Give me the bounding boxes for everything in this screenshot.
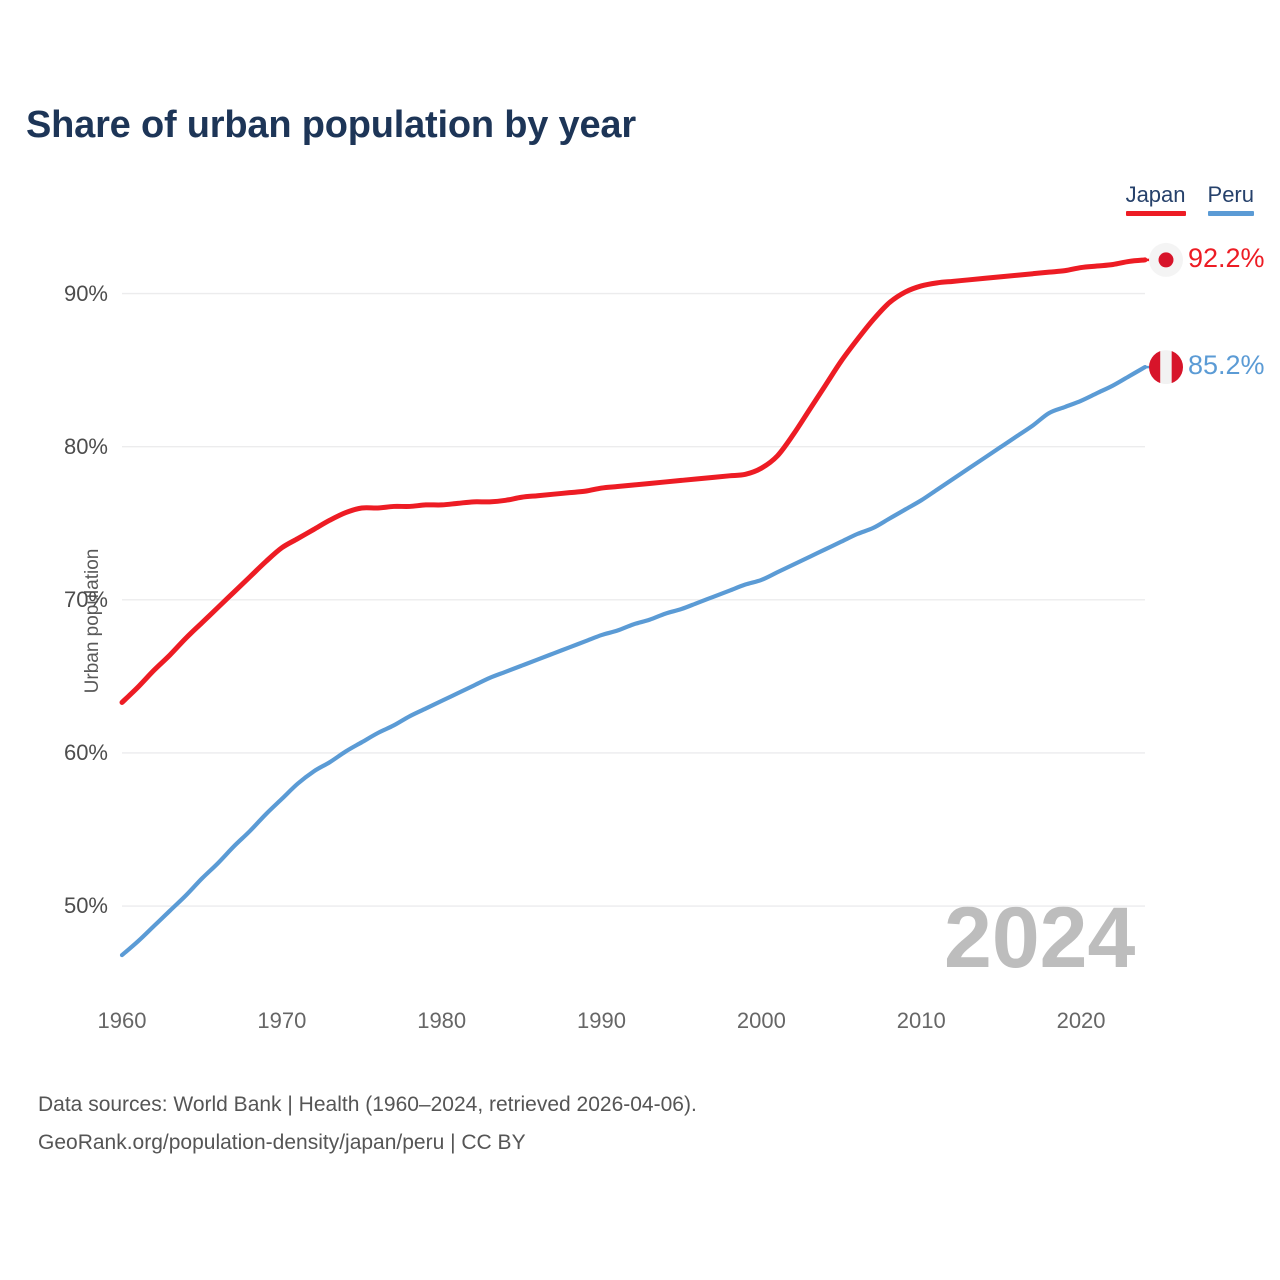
y-axis-tick-label: 80% <box>18 434 108 460</box>
legend-item-japan[interactable]: Japan <box>1126 182 1186 216</box>
chart-footer: Data sources: World Bank | Health (1960–… <box>38 1086 697 1162</box>
chart-page: Share of urban population by year Japan … <box>0 0 1280 1280</box>
series-lines <box>122 260 1145 955</box>
footer-attribution: GeoRank.org/population-density/japan/per… <box>38 1124 697 1162</box>
x-axis-tick-label: 1990 <box>577 1008 626 1034</box>
y-axis-tick-label: 50% <box>18 893 108 919</box>
chart-legend: Japan Peru <box>1126 182 1254 216</box>
legend-label-japan: Japan <box>1126 182 1186 208</box>
legend-color-swatch-japan <box>1126 211 1186 216</box>
flag-japan-icon <box>1149 243 1183 277</box>
legend-item-peru[interactable]: Peru <box>1208 182 1254 216</box>
flag-peru-icon <box>1149 350 1183 384</box>
y-axis-tick-label: 60% <box>18 740 108 766</box>
series-line-peru <box>122 367 1145 955</box>
x-axis-tick-label: 2000 <box>737 1008 786 1034</box>
gridlines <box>122 294 1145 907</box>
year-watermark: 2024 <box>944 889 1135 988</box>
end-value-peru: 85.2% <box>1188 350 1265 381</box>
series-line-japan <box>122 260 1145 703</box>
legend-color-swatch-peru <box>1208 211 1254 216</box>
end-value-japan: 92.2% <box>1188 243 1265 274</box>
x-axis-tick-label: 1970 <box>257 1008 306 1034</box>
y-axis-title: Urban population <box>82 521 104 721</box>
x-axis-tick-label: 1960 <box>98 1008 147 1034</box>
x-axis-tick-label: 2010 <box>897 1008 946 1034</box>
y-axis-tick-label: 90% <box>18 281 108 307</box>
footer-data-sources: Data sources: World Bank | Health (1960–… <box>38 1086 697 1124</box>
x-axis-tick-label: 1980 <box>417 1008 466 1034</box>
page-title: Share of urban population by year <box>26 104 636 147</box>
legend-label-peru: Peru <box>1208 182 1254 208</box>
x-axis-tick-label: 2020 <box>1057 1008 1106 1034</box>
end-markers <box>1145 243 1183 384</box>
